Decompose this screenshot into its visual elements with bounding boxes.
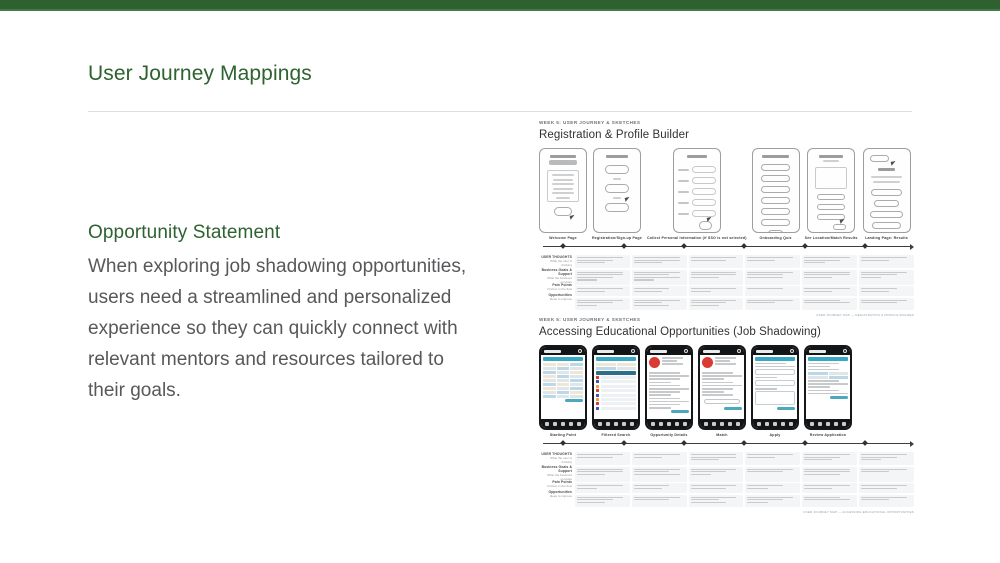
matrix-cell — [575, 286, 630, 296]
sketch-screen-signup — [593, 148, 641, 233]
row-label: Opportunities Ideas to improve — [539, 490, 575, 502]
matrix-cell — [745, 270, 800, 285]
journey-timeline — [539, 439, 914, 449]
matrix-cell — [689, 452, 744, 465]
sketch-screen-landing-results — [863, 148, 911, 233]
matrix-cell — [632, 467, 687, 482]
hifi-screen-starting-point — [539, 345, 587, 430]
search-icon — [659, 422, 663, 426]
stage-column[interactable]: Opportunity Details — [645, 345, 693, 437]
matrix-cell — [745, 483, 800, 493]
map-footnote: USER JOURNEY MAP — ACCESSING EDUCATIONAL… — [539, 510, 914, 514]
app-logo — [756, 350, 773, 353]
home-icon — [651, 422, 655, 426]
search-icon — [712, 422, 716, 426]
stage-column[interactable]: Review Application — [804, 345, 852, 437]
matrix-cell — [632, 483, 687, 493]
page-title: User Journey Mappings — [88, 62, 312, 86]
matrix-cell — [802, 298, 857, 310]
timeline-node — [741, 243, 747, 249]
list-icon — [614, 422, 618, 426]
journey-timeline — [539, 242, 914, 252]
map-canvas: Starting Point — [539, 345, 914, 514]
gear-icon[interactable] — [631, 349, 635, 353]
profile-icon — [842, 422, 846, 426]
timeline-axis — [543, 246, 912, 247]
matrix-cell — [575, 255, 630, 268]
profile-icon — [630, 422, 634, 426]
sketch-screen-welcome — [539, 148, 587, 233]
timeline-node — [741, 440, 747, 446]
matrix-column — [632, 452, 687, 508]
journey-map-registration[interactable]: WEEK 5: USER JOURNEY & SKETCHES Registra… — [539, 120, 914, 317]
home-icon — [757, 422, 761, 426]
matrix-column — [632, 255, 687, 311]
matrix-cell — [632, 298, 687, 310]
stage-column[interactable]: Apply — [751, 345, 799, 437]
opportunity-statement-heading: Opportunity Statement — [88, 222, 280, 244]
matrix-cell — [802, 483, 857, 493]
matrix-cell — [575, 270, 630, 285]
profile-icon — [789, 422, 793, 426]
stage-column[interactable]: See Location/Match Results — [805, 148, 858, 240]
matrix-cell — [859, 452, 914, 465]
stage-column[interactable]: Starting Point — [539, 345, 587, 437]
matrix-column — [859, 452, 914, 508]
title-divider — [88, 111, 912, 112]
list-icon — [773, 422, 777, 426]
matrix-cell — [802, 467, 857, 482]
slide-page: User Journey Mappings Opportunity Statem… — [0, 0, 1000, 563]
bottom-nav-bar[interactable] — [753, 419, 797, 428]
matrix-cell — [689, 495, 744, 507]
matrix-column — [802, 255, 857, 311]
matrix-cell — [802, 270, 857, 285]
matrix-cell — [859, 286, 914, 296]
primary-action-button[interactable] — [777, 407, 795, 410]
matrix-cell — [745, 286, 800, 296]
chat-icon — [834, 422, 838, 426]
timeline-arrow-icon — [910, 441, 914, 447]
app-logo — [809, 350, 826, 353]
row-label: Pain Points Friction in the flow — [539, 283, 575, 293]
home-icon — [810, 422, 814, 426]
matrix-cell — [745, 298, 800, 310]
matrix-cell — [859, 495, 914, 507]
hifi-screen-strip: Starting Point — [539, 345, 914, 437]
list-icon — [667, 422, 671, 426]
row-label: Business Goals & Support What the busine… — [539, 268, 575, 283]
list-icon — [720, 422, 724, 426]
matrix-cell — [575, 298, 630, 310]
matrix-cell — [689, 483, 744, 493]
stage-column[interactable]: Onboarding Quiz — [752, 148, 800, 240]
matrix-cell — [802, 286, 857, 296]
matrix-cell — [575, 467, 630, 482]
matrix-cell — [575, 483, 630, 493]
matrix-cell — [632, 286, 687, 296]
avatar — [702, 357, 713, 368]
matrix-cell — [575, 495, 630, 507]
home-icon — [704, 422, 708, 426]
matrix-cell — [632, 452, 687, 465]
row-label: USER THOUGHTS What the user is thinking — [539, 255, 575, 268]
matrix-cell — [689, 467, 744, 482]
search-icon — [606, 422, 610, 426]
stage-column[interactable]: Registration/Sign-up Page — [592, 148, 642, 240]
matrix-cell — [802, 255, 857, 268]
bottom-nav-bar[interactable] — [647, 419, 691, 428]
sketch-screen-strip: Welcome Page Registration/Sign-up Page — [539, 148, 914, 240]
stage-label: Match — [716, 433, 727, 437]
matrix-cell — [802, 452, 857, 465]
gear-icon[interactable] — [684, 349, 688, 353]
bottom-nav-bar[interactable] — [700, 419, 744, 428]
home-icon — [598, 422, 602, 426]
matrix-column — [802, 452, 857, 508]
map-canvas: Welcome Page Registration/Sign-up Page — [539, 148, 914, 317]
map-heading: Accessing Educational Opportunities (Job… — [539, 326, 914, 338]
journey-matrix: USER THOUGHTS What the user is thinking … — [539, 255, 914, 311]
timeline-node — [802, 243, 808, 249]
matrix-cell — [689, 270, 744, 285]
bottom-nav-bar[interactable] — [806, 419, 850, 428]
matrix-column — [859, 255, 914, 311]
top-accent-bar — [0, 0, 1000, 11]
search-icon — [765, 422, 769, 426]
stage-label: See Location/Match Results — [805, 236, 858, 240]
stage-label: Starting Point — [550, 433, 576, 437]
profile-icon — [577, 422, 581, 426]
stage-label: Welcome Page — [549, 236, 577, 240]
list-icon — [561, 422, 565, 426]
stage-label: Registration/Sign-up Page — [592, 236, 642, 240]
matrix-cell — [575, 452, 630, 465]
timeline-node — [621, 440, 627, 446]
gear-icon[interactable] — [790, 349, 794, 353]
hifi-screen-apply — [751, 345, 799, 430]
matrix-cell — [632, 255, 687, 268]
stage-label: Opportunity Details — [650, 433, 687, 437]
timeline-node — [681, 243, 687, 249]
map-eyebrow: WEEK 5: USER JOURNEY & SKETCHES — [539, 317, 914, 322]
matrix-cell — [689, 255, 744, 268]
gear-icon[interactable] — [843, 349, 847, 353]
hifi-screen-review-application — [804, 345, 852, 430]
stage-column[interactable]: Welcome Page — [539, 148, 587, 240]
top-accent-bar-highlight — [0, 9, 1000, 11]
chat-icon — [781, 422, 785, 426]
row-label: Pain Points Friction in the flow — [539, 480, 575, 490]
journey-matrix: USER THOUGHTS What the user is thinking … — [539, 452, 914, 508]
matrix-cell — [745, 255, 800, 268]
matrix-column — [689, 255, 744, 311]
stage-column[interactable]: Match — [698, 345, 746, 437]
bottom-nav-bar[interactable] — [594, 419, 638, 428]
app-logo — [544, 350, 561, 353]
app-logo — [597, 350, 614, 353]
timeline-axis — [543, 443, 912, 444]
stage-label: Filtered Search — [602, 433, 631, 437]
timeline-node — [621, 243, 627, 249]
map-heading: Registration & Profile Builder — [539, 129, 914, 141]
stage-label: Apply — [770, 433, 781, 437]
primary-action-button[interactable] — [671, 410, 689, 413]
matrix-cell — [859, 467, 914, 482]
avatar — [649, 357, 660, 368]
sketch-screen-onboarding-quiz — [752, 148, 800, 233]
search-icon — [553, 422, 557, 426]
matrix-cell — [802, 495, 857, 507]
matrix-cell — [859, 483, 914, 493]
matrix-cell — [689, 286, 744, 296]
matrix-cell — [632, 270, 687, 285]
timeline-arrow-icon — [910, 244, 914, 250]
chat-icon — [675, 422, 679, 426]
matrix-cell — [745, 452, 800, 465]
gear-icon[interactable] — [578, 349, 582, 353]
bottom-nav-bar[interactable] — [541, 419, 585, 428]
stage-label: Review Application — [810, 433, 846, 437]
gear-icon[interactable] — [737, 349, 741, 353]
matrix-row-labels: USER THOUGHTS What the user is thinking … — [539, 255, 575, 311]
row-label: Opportunities Ideas to improve — [539, 293, 575, 305]
matrix-column — [575, 255, 630, 311]
timeline-node — [560, 243, 566, 249]
matrix-row-labels: USER THOUGHTS What the user is thinking … — [539, 452, 575, 508]
chat-icon — [569, 422, 573, 426]
chat-icon — [622, 422, 626, 426]
row-label: Business Goals & Support What the busine… — [539, 465, 575, 480]
matrix-cell — [745, 467, 800, 482]
profile-icon — [736, 422, 740, 426]
matrix-cell — [689, 298, 744, 310]
search-icon — [818, 422, 822, 426]
stage-column[interactable]: Filtered Search — [592, 345, 640, 437]
stage-label: Landing Page: Results — [865, 236, 908, 240]
app-logo — [703, 350, 720, 353]
stage-label: Onboarding Quiz — [760, 236, 792, 240]
matrix-cell — [859, 270, 914, 285]
timeline-node — [862, 440, 868, 446]
primary-action-button[interactable] — [724, 407, 742, 410]
matrix-cell — [745, 495, 800, 507]
matrix-cell — [632, 495, 687, 507]
stage-label: Collect Personal Information (if SSO is … — [647, 236, 747, 240]
sketch-screen-match-results — [807, 148, 855, 233]
stage-column[interactable]: Landing Page: Results — [863, 148, 911, 240]
sketch-screen-personal-info — [673, 148, 721, 233]
list-icon — [826, 422, 830, 426]
chat-icon — [728, 422, 732, 426]
hifi-screen-filtered-search — [592, 345, 640, 430]
app-logo — [650, 350, 667, 353]
hifi-screen-match — [698, 345, 746, 430]
primary-action-button[interactable] — [830, 396, 848, 399]
matrix-columns — [575, 255, 914, 311]
hifi-screen-opportunity-details — [645, 345, 693, 430]
timeline-node — [560, 440, 566, 446]
matrix-column — [745, 255, 800, 311]
timeline-node — [802, 440, 808, 446]
timeline-node — [681, 440, 687, 446]
matrix-cell — [859, 298, 914, 310]
matrix-column — [689, 452, 744, 508]
matrix-column — [575, 452, 630, 508]
opportunity-statement-body: When exploring job shadowing opportuniti… — [88, 251, 470, 406]
row-label: USER THOUGHTS What the user is thinking — [539, 452, 575, 465]
stage-column[interactable]: Collect Personal Information (if SSO is … — [647, 148, 747, 240]
timeline-node — [862, 243, 868, 249]
map-eyebrow: WEEK 5: USER JOURNEY & SKETCHES — [539, 120, 914, 125]
matrix-columns — [575, 452, 914, 508]
profile-icon — [683, 422, 687, 426]
matrix-cell — [859, 255, 914, 268]
journey-map-job-shadowing[interactable]: WEEK 5: USER JOURNEY & SKETCHES Accessin… — [539, 317, 914, 514]
home-icon — [545, 422, 549, 426]
matrix-column — [745, 452, 800, 508]
